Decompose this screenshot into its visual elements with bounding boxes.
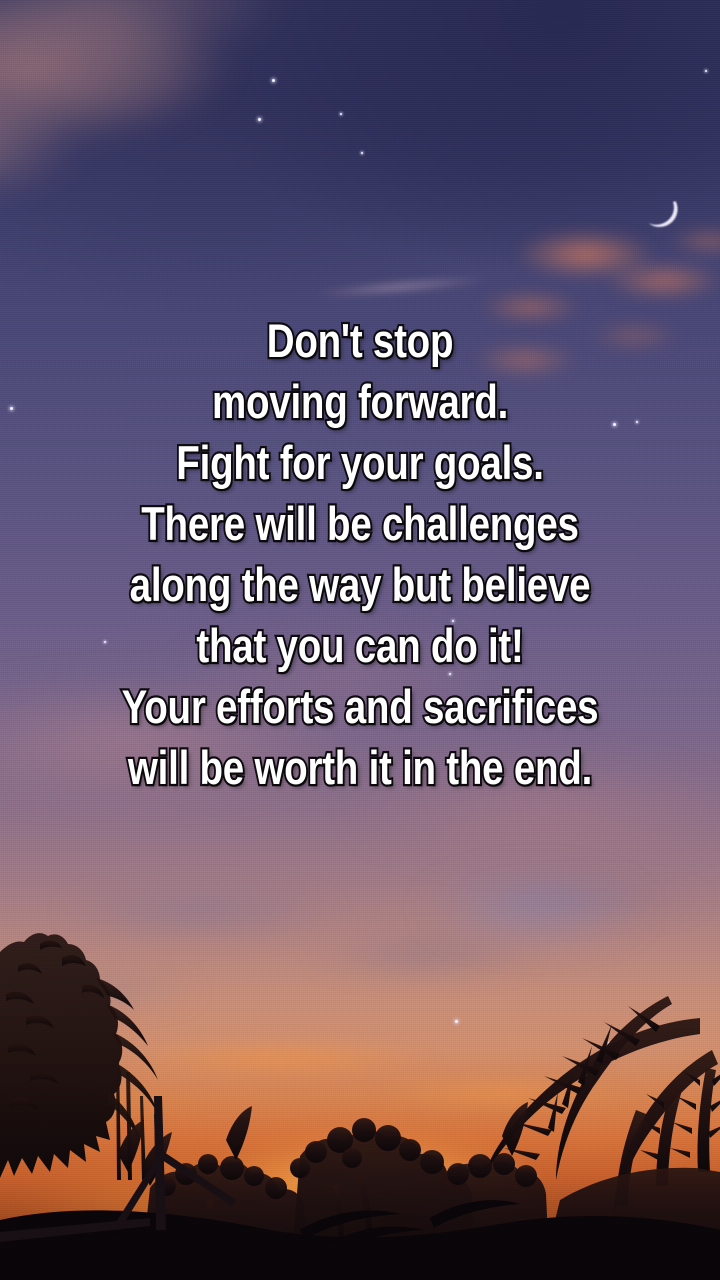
quote-line: Fight for your goals.: [76, 432, 643, 493]
star: [361, 152, 363, 154]
quote-line: moving forward.: [76, 371, 643, 432]
star: [272, 79, 275, 82]
quote-line: Don't stop: [76, 310, 643, 371]
star: [705, 70, 707, 72]
quote-line: There will be challenges: [76, 493, 643, 554]
quote-text-block: Don't stop moving forward. Fight for you…: [0, 310, 720, 798]
star: [340, 113, 342, 115]
quote-line: Your efforts and sacrifices: [76, 676, 643, 737]
star: [258, 118, 261, 121]
silhouette-layer: [0, 900, 720, 1280]
quote-wallpaper: Don't stop moving forward. Fight for you…: [0, 0, 720, 1280]
quote-line: that you can do it!: [76, 615, 643, 676]
quote-line: along the way but believe: [76, 554, 643, 615]
crescent-moon-icon: [640, 196, 688, 238]
cloud-top-left-rose: [0, 0, 370, 260]
quote-line: will be worth it in the end.: [76, 737, 643, 798]
